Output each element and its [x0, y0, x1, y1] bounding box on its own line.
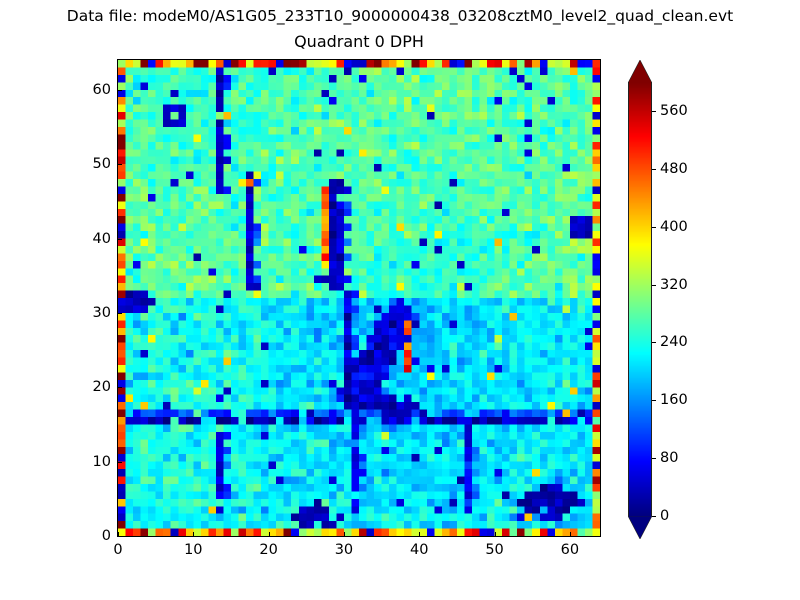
y-tick-mark [118, 313, 122, 314]
colorbar-tick-mark [652, 227, 656, 228]
heatmap-axes[interactable] [117, 59, 601, 537]
x-tick-label: 60 [561, 542, 579, 558]
colorbar-tick-mark [652, 111, 656, 112]
colorbar-tick-mark [652, 342, 656, 343]
x-tick-label: 10 [184, 542, 202, 558]
colorbar-tick-mark [652, 285, 656, 286]
x-tick-mark [495, 532, 496, 536]
colorbar-tick-label: 400 [660, 219, 688, 235]
colorbar-tick-label: 320 [660, 277, 688, 293]
plot-title: Quadrant 0 DPH [117, 31, 601, 53]
colorbar-tick-mark [652, 400, 656, 401]
colorbar[interactable]: 080160240320400480560 [628, 60, 652, 538]
x-tick-mark [269, 532, 270, 536]
y-tick-mark [118, 536, 122, 537]
x-tick-label: 40 [410, 542, 428, 558]
y-tick-label: 0 [73, 528, 111, 544]
figure-canvas: Data file: modeM0/AS1G05_233T10_90000004… [0, 0, 800, 600]
colorbar-extend-top-arrow [628, 60, 652, 83]
y-tick-mark [118, 90, 122, 91]
y-tick-label: 10 [73, 454, 111, 470]
colorbar-tick-label: 0 [660, 508, 669, 524]
colorbar-tick-mark [652, 516, 656, 517]
y-tick-label: 50 [73, 156, 111, 172]
y-tick-mark [118, 387, 122, 388]
colorbar-tick-label: 240 [660, 334, 688, 350]
x-tick-label: 30 [335, 542, 353, 558]
detector-heatmap-image[interactable] [118, 60, 600, 536]
y-tick-label: 60 [73, 82, 111, 98]
y-tick-label: 20 [73, 379, 111, 395]
colorbar-tick-mark [652, 169, 656, 170]
x-tick-mark [193, 532, 194, 536]
colorbar-tick-label: 160 [660, 392, 688, 408]
x-tick-mark [570, 532, 571, 536]
colorbar-tick-label: 480 [660, 161, 688, 177]
y-tick-label: 40 [73, 231, 111, 247]
y-tick-mark [118, 462, 122, 463]
y-tick-label: 30 [73, 305, 111, 321]
x-tick-mark [419, 532, 420, 536]
x-tick-mark [344, 532, 345, 536]
y-tick-mark [118, 164, 122, 165]
colorbar-tick-mark [652, 458, 656, 459]
colorbar-gradient [629, 82, 651, 516]
colorbar-extend-bottom-arrow [628, 516, 652, 539]
data-file-title: Data file: modeM0/AS1G05_233T10_90000004… [0, 6, 800, 26]
colorbar-tick-label: 80 [660, 450, 678, 466]
x-tick-label: 20 [259, 542, 277, 558]
colorbar-gradient-body[interactable] [628, 82, 652, 516]
colorbar-tick-label: 560 [660, 103, 688, 119]
x-tick-label: 50 [485, 542, 503, 558]
x-tick-label: 0 [113, 542, 122, 558]
y-tick-mark [118, 239, 122, 240]
